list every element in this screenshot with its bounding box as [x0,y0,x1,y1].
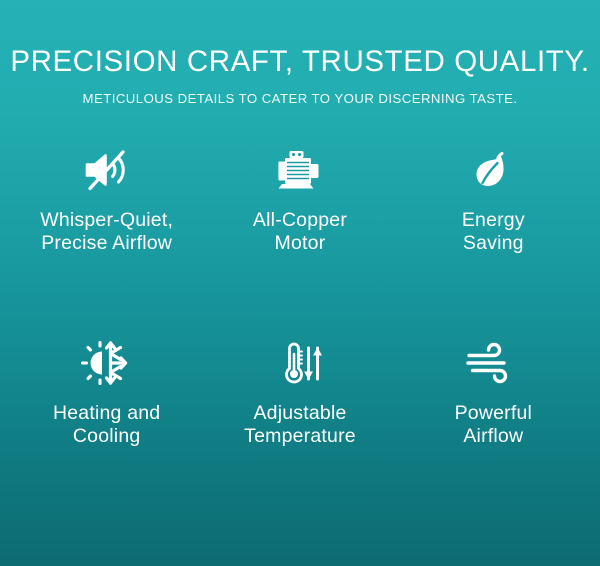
feature-item-all-copper-motor: All-Copper Motor [203,129,396,321]
subheadline: METICULOUS DETAILS TO CATER TO YOUR DISC… [0,91,600,107]
feature-grid: Whisper-Quiet, Precise Airflow [0,107,600,566]
feature-item-adjustable-temperature: Adjustable Temperature [203,322,396,514]
feature-item-whisper-quiet: Whisper-Quiet, Precise Airflow [10,129,203,321]
feature-label: Powerful Airflow [455,402,532,448]
sun-snowflake-icon [76,336,138,390]
wind-icon [462,336,524,390]
electric-motor-icon [269,143,331,197]
speaker-mute-icon [76,143,138,197]
feature-item-energy-saving: Energy Saving [397,129,590,321]
feature-label: Adjustable Temperature [244,402,356,448]
headline: PRECISION CRAFT, TRUSTED QUALITY. [0,46,600,78]
feature-label: All-Copper Motor [253,209,347,255]
feature-banner: PRECISION CRAFT, TRUSTED QUALITY. METICU… [0,0,600,566]
feature-item-heating-cooling: Heating and Cooling [10,322,203,514]
banner-header: PRECISION CRAFT, TRUSTED QUALITY. METICU… [0,0,600,107]
feature-label: Energy Saving [462,209,525,255]
feature-label: Heating and Cooling [53,402,160,448]
feature-label: Whisper-Quiet, Precise Airflow [40,209,173,255]
thermometer-arrows-icon [269,336,331,390]
leaf-icon [462,143,524,197]
feature-item-powerful-airflow: Powerful Airflow [397,322,590,514]
